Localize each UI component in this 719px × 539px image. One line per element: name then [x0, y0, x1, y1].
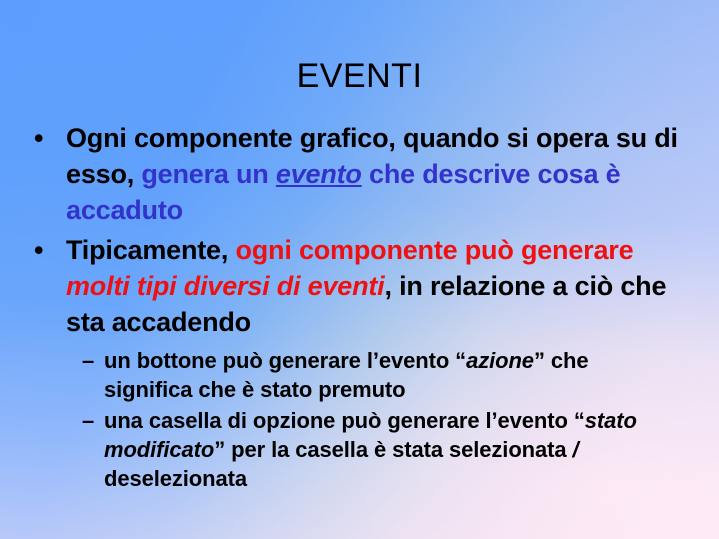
sub-bullet-item: – un bottone può generare l’evento “azio… — [82, 346, 698, 404]
text-run: ” per la casella è stata selezionata — [214, 437, 572, 462]
sub-bullet-text: una casella di opzione può generare l’ev… — [104, 406, 664, 493]
sub-bullet-text: un bottone può generare l’evento “azione… — [104, 346, 664, 404]
text-run: Tipicamente, — [66, 235, 235, 265]
text-run: genera un — [134, 159, 276, 189]
bullet-marker-icon: • — [26, 232, 66, 268]
page-title: EVENTI — [0, 56, 719, 96]
bullet-list: • Ogni componente grafico, quando si ope… — [26, 120, 698, 495]
bullet-text: Tipicamente, ogni componente può generar… — [66, 232, 698, 340]
text-run: ogni componente può generare — [235, 235, 633, 265]
text-run: molti tipi diversi di eventi — [66, 271, 384, 301]
text-run: evento — [276, 159, 362, 189]
sub-bullet-marker-icon: – — [82, 406, 104, 435]
text-run: una casella di opzione può generare l’ev… — [104, 408, 585, 433]
slide-content: EVENTI • Ogni componente grafico, quando… — [0, 0, 719, 539]
text-run: deselezionata — [104, 466, 247, 491]
sub-bullet-marker-icon: – — [82, 346, 104, 375]
text-run: / — [573, 437, 579, 462]
text-run: un bottone può generare l’evento “ — [104, 348, 466, 373]
sub-bullet-list: – un bottone può generare l’evento “azio… — [82, 346, 698, 493]
bullet-item: • Ogni componente grafico, quando si ope… — [26, 120, 698, 228]
text-run: azione — [466, 348, 534, 373]
bullet-text: Ogni componente grafico, quando si opera… — [66, 120, 698, 228]
bullet-item: • Tipicamente, ogni componente può gener… — [26, 232, 698, 340]
sub-bullet-item: – una casella di opzione può generare l’… — [82, 406, 698, 493]
bullet-marker-icon: • — [26, 120, 66, 156]
slide-canvas: EVENTI • Ogni componente grafico, quando… — [0, 0, 719, 539]
